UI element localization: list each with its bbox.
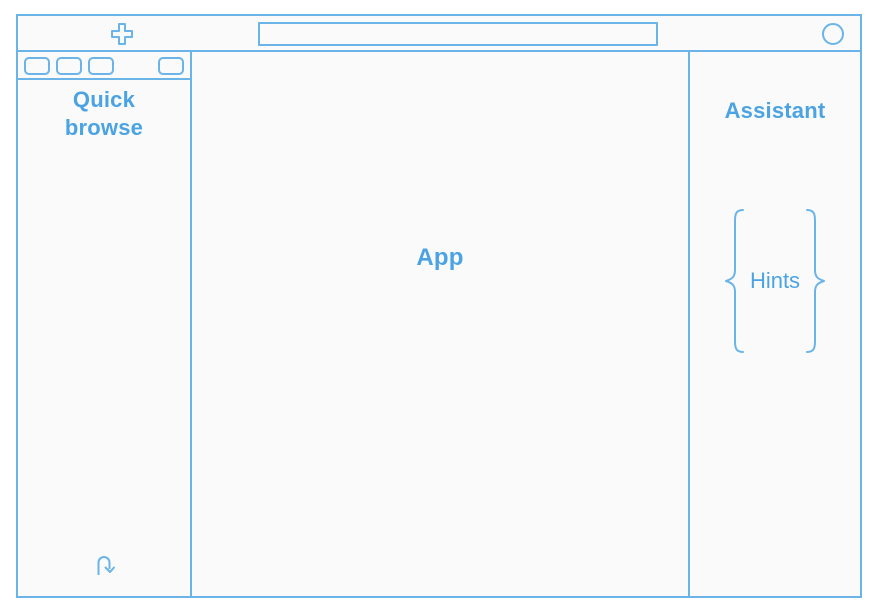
hints-label: Hints	[748, 268, 802, 294]
app-content-area[interactable]: App	[192, 52, 688, 596]
u-turn-arrow-button[interactable]	[88, 548, 122, 582]
browser-window-frame: Quick browse App Assistant	[16, 14, 862, 598]
u-turn-arrow-icon	[90, 550, 120, 580]
hints-group: Hints	[698, 208, 852, 354]
right-curly-brace-icon	[802, 208, 828, 354]
toolbar-chip-4[interactable]	[158, 57, 184, 75]
app-label: App	[192, 244, 688, 272]
toolbar-chip-3[interactable]	[88, 57, 114, 75]
toolbar-chip-1[interactable]	[24, 57, 50, 75]
left-curly-brace-icon	[722, 208, 748, 354]
toolbar-chip-2[interactable]	[56, 57, 82, 75]
plus-icon	[109, 21, 135, 47]
new-tab-button[interactable]	[98, 19, 146, 49]
circle-avatar-icon[interactable]	[822, 23, 844, 45]
quick-browse-sidebar: Quick browse	[18, 52, 192, 596]
sidebar-toolbar	[18, 52, 190, 80]
browser-chrome-bar	[18, 16, 860, 52]
sidebar-title: Quick browse	[18, 86, 190, 141]
assistant-panel: Assistant Hints	[688, 52, 860, 596]
wireframe-canvas: Quick browse App Assistant	[0, 0, 879, 616]
window-body: Quick browse App Assistant	[18, 52, 860, 596]
address-bar-input[interactable]	[258, 22, 658, 46]
assistant-title: Assistant	[690, 98, 860, 124]
